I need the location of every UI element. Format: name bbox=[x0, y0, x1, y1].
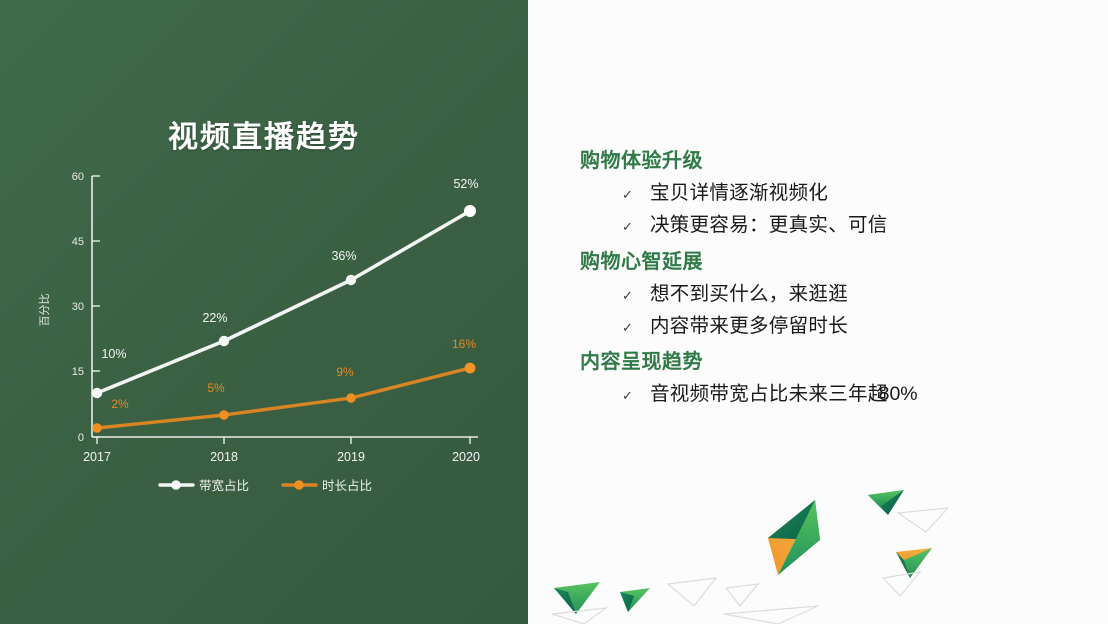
list-item: ✓ 想不到买什么，来逛逛 bbox=[580, 282, 1080, 307]
content-block: 购物体验升级 ✓ 宝贝详情逐渐视频化 ✓ 决策更容易：更真实、可信 购物心智延展… bbox=[580, 148, 1080, 418]
bullet-text: 想不到买什么，来逛逛 bbox=[650, 282, 848, 307]
series-points-bandwidth bbox=[92, 205, 476, 398]
series-line-duration bbox=[97, 368, 470, 428]
section-heading-shopping-mindset: 购物心智延展 bbox=[580, 249, 1080, 276]
bullet-list-shopping-experience: ✓ 宝贝详情逐渐视频化 ✓ 决策更容易：更真实、可信 bbox=[580, 181, 1080, 239]
legend-point-bandwidth bbox=[171, 480, 181, 490]
y-tick-label-60: 60 bbox=[72, 171, 84, 183]
content-panel: 购物体验升级 ✓ 宝贝详情逐渐视频化 ✓ 决策更容易：更真实、可信 购物心智延展… bbox=[528, 0, 1108, 624]
section-heading-content-trend: 内容呈现趋势 bbox=[580, 349, 1080, 376]
list-item: ✓ 宝贝详情逐渐视频化 bbox=[580, 181, 1080, 206]
legend-point-duration bbox=[294, 480, 304, 490]
list-item: ✓ 内容带来更多停留时长 bbox=[580, 314, 1080, 339]
data-label-bandwidth-2019: 36% bbox=[331, 249, 356, 263]
data-label-duration-2017: 2% bbox=[111, 397, 129, 411]
check-icon: ✓ bbox=[622, 188, 650, 201]
y-axis-title: 百分比 bbox=[38, 294, 51, 327]
x-tick-marks bbox=[97, 437, 470, 444]
triangle-large bbox=[768, 500, 820, 575]
list-item: ✓ 决策更容易：更真实、可信 bbox=[580, 213, 1080, 238]
triangle-small-left bbox=[554, 582, 600, 614]
series-line-bandwidth bbox=[97, 211, 470, 393]
triangle-top-right bbox=[868, 490, 904, 515]
y-tick-label-15: 15 bbox=[72, 366, 84, 378]
x-tick-label-2017: 2017 bbox=[83, 450, 111, 464]
x-tick-label-2020: 2020 bbox=[452, 450, 480, 464]
triangle-small-left-2 bbox=[620, 588, 650, 612]
data-label-duration-2020: 16% bbox=[452, 337, 476, 351]
list-item: ✓ 音视频带宽占比未来三年超80% bbox=[580, 382, 1080, 407]
chart-area: 60 45 30 15 0 百分比 2017 2018 2019 202 bbox=[0, 0, 528, 624]
triangle-wireframe-group bbox=[552, 508, 948, 624]
chart-panel: 视频直播趋势 60 45 30 15 bbox=[0, 0, 528, 624]
line-chart-svg: 60 45 30 15 0 百分比 2017 2018 2019 202 bbox=[0, 0, 528, 624]
data-label-duration-2019: 9% bbox=[336, 365, 354, 379]
check-icon: ✓ bbox=[622, 321, 650, 334]
legend-label-bandwidth: 带宽占比 bbox=[199, 478, 249, 493]
check-icon: ✓ bbox=[622, 389, 650, 402]
bullet-list-content-trend: ✓ 音视频带宽占比未来三年超80% bbox=[580, 382, 1080, 407]
bullet-text: 音视频带宽占比未来三年超80% bbox=[650, 382, 927, 407]
x-tick-label-2019: 2019 bbox=[337, 450, 365, 464]
check-icon: ✓ bbox=[622, 220, 650, 233]
data-label-duration-2018: 5% bbox=[207, 381, 225, 395]
slide-root: 视频直播趋势 60 45 30 15 bbox=[0, 0, 1108, 624]
y-tick-label-45: 45 bbox=[72, 236, 84, 248]
bullet-text: 内容带来更多停留时长 bbox=[650, 314, 848, 339]
triangle-right bbox=[896, 548, 932, 578]
y-tick-label-0: 0 bbox=[78, 432, 84, 444]
bullet-text-main: 音视频带宽占比未来三年超 bbox=[650, 383, 888, 405]
data-label-bandwidth-2018: 22% bbox=[202, 311, 227, 325]
bullet-text: 宝贝详情逐渐视频化 bbox=[650, 181, 828, 206]
x-tick-label-2018: 2018 bbox=[210, 450, 238, 464]
section-heading-shopping-experience: 购物体验升级 bbox=[580, 148, 1080, 175]
legend-label-duration: 时长占比 bbox=[322, 478, 372, 493]
chart-legend: 带宽占比 时长占比 bbox=[160, 478, 372, 493]
bullet-list-shopping-mindset: ✓ 想不到买什么，来逛逛 ✓ 内容带来更多停留时长 bbox=[580, 282, 1080, 340]
data-label-bandwidth-2017: 10% bbox=[101, 347, 126, 361]
bullet-text-overlap: 80% bbox=[879, 383, 918, 405]
data-label-bandwidth-2020: 52% bbox=[453, 177, 478, 191]
y-tick-label-30: 30 bbox=[72, 301, 84, 313]
bullet-text: 决策更容易：更真实、可信 bbox=[650, 213, 888, 238]
check-icon: ✓ bbox=[622, 289, 650, 302]
